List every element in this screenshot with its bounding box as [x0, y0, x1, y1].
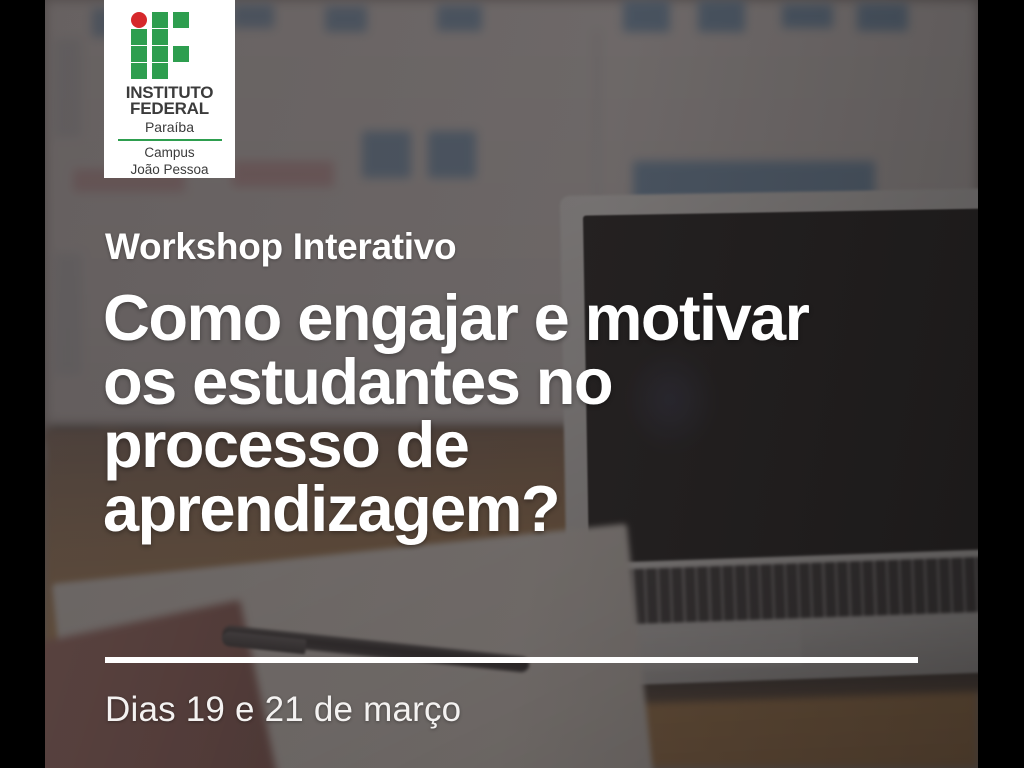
ifpb-logo-card: INSTITUTO FEDERAL Paraíba Campus João Pe…: [104, 0, 235, 178]
poster-canvas: INSTITUTO FEDERAL Paraíba Campus João Pe…: [0, 0, 1024, 768]
logo-cell-2-0: [131, 46, 147, 62]
logo-cell-1-1: [152, 29, 168, 45]
logo-cell-0-1: [152, 12, 168, 28]
logo-cell-2-1: [152, 46, 168, 62]
headline-line-1: Como engajar e motivar: [103, 286, 923, 350]
logo-line-federal: FEDERAL: [118, 100, 222, 117]
poster-dateline: Dias 19 e 21 de março: [105, 690, 461, 730]
logo-cell-1-0: [131, 29, 147, 45]
logo-cell-2-2: [173, 46, 189, 62]
poster-headline: Como engajar e motivaros estudantes nopr…: [103, 286, 923, 541]
headline-line-4: aprendizagem?: [103, 477, 923, 541]
ifpb-logo-text: INSTITUTO FEDERAL Paraíba Campus João Pe…: [118, 84, 222, 178]
logo-line-campus: Campus: [118, 145, 222, 161]
logo-line-paraiba: Paraíba: [118, 120, 222, 134]
poster-kicker: Workshop Interativo: [105, 226, 456, 268]
ifpb-logo-mark-icon: [131, 12, 209, 79]
headline-line-2: os estudantes no: [103, 350, 923, 414]
logo-cell-3-1: [152, 63, 168, 79]
letterbox-bar-left: [0, 0, 45, 768]
poster-content: INSTITUTO FEDERAL Paraíba Campus João Pe…: [0, 0, 1024, 768]
logo-cell-0-2: [173, 12, 189, 28]
logo-separator: [118, 139, 222, 141]
letterbox-bar-right: [978, 0, 1024, 768]
logo-line-joao-pessoa: João Pessoa: [118, 162, 222, 178]
logo-cell-0-0: [131, 12, 147, 28]
divider-rule: [105, 657, 918, 663]
logo-cell-3-0: [131, 63, 147, 79]
headline-line-3: processo de: [103, 413, 923, 477]
